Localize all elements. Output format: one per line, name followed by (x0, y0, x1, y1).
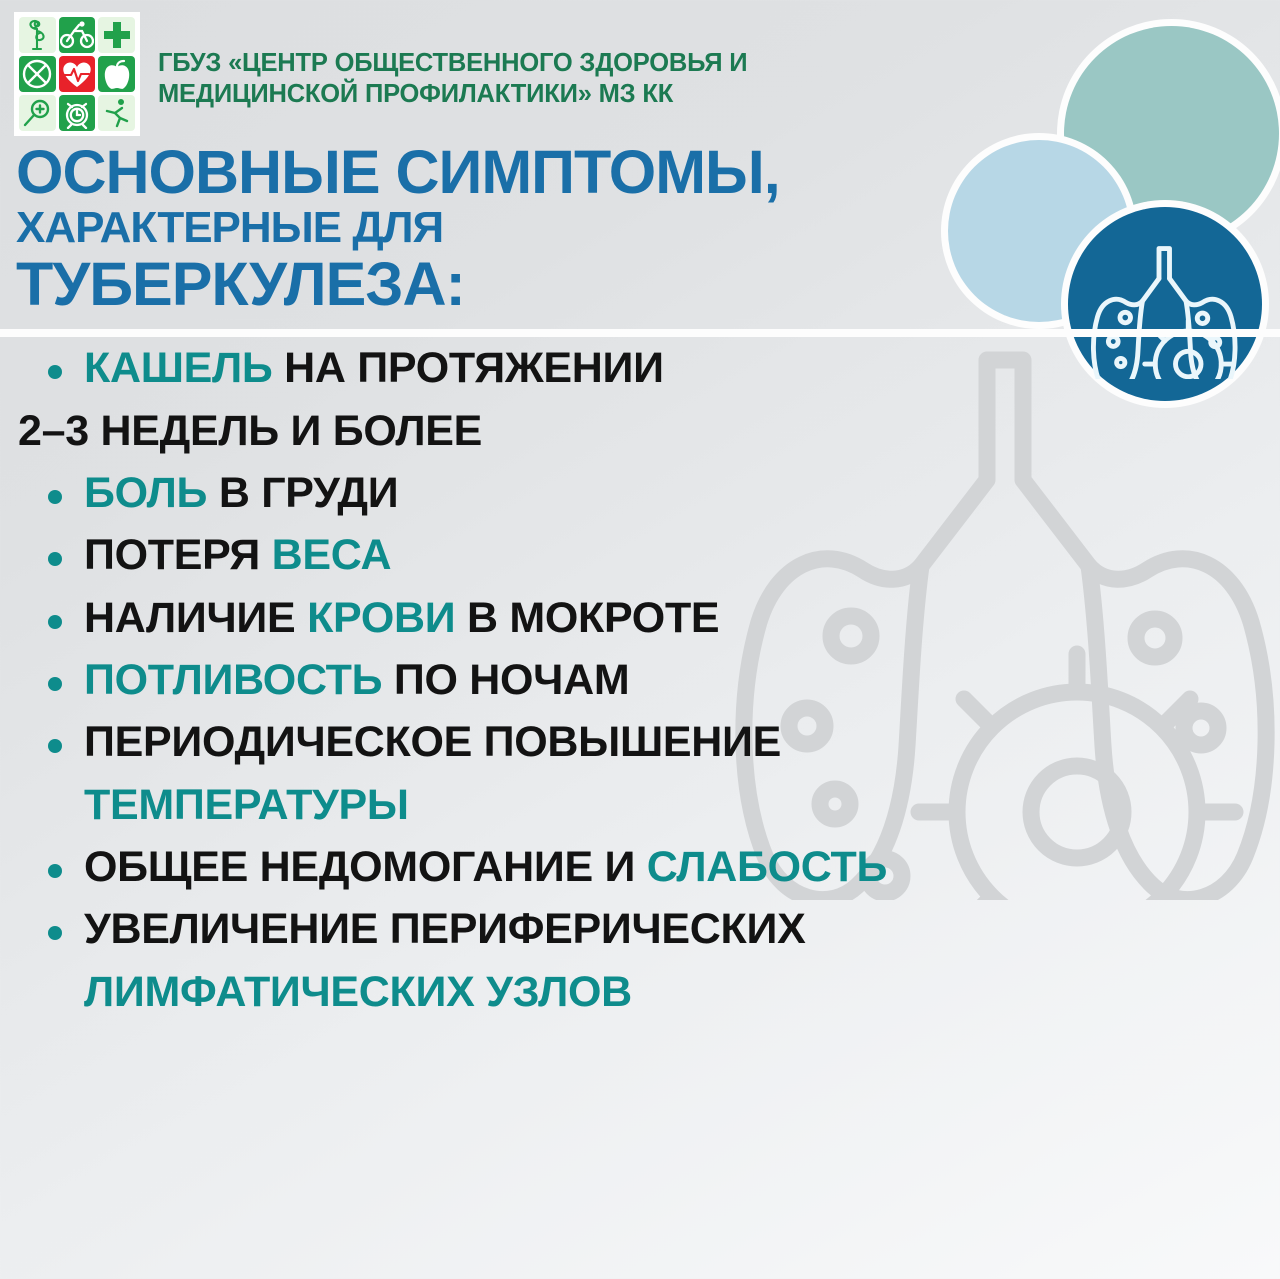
symptom-keyword: БОЛЬ (84, 469, 207, 517)
symptom-text-plain: 2–3 НЕДЕЛЬ И БОЛЕЕ (18, 407, 482, 455)
bullet-dot-icon (48, 552, 62, 566)
bullet-dot-icon (48, 677, 62, 691)
symptom-text-plain: УВЕЛИЧЕНИЕ ПЕРИФЕРИЧЕСКИХ (84, 905, 805, 953)
symptom-text: БОЛЬ В ГРУДИ (84, 465, 398, 521)
symptom-keyword: ТЕМПЕРАТУРЫ (84, 781, 409, 829)
symptom-item: НАЛИЧИЕ КРОВИ В МОКРОТЕ (0, 590, 1280, 646)
symptom-text-plain: ПОТЕРЯ (84, 531, 272, 579)
bullet-dot-icon (48, 926, 62, 940)
symptom-text: НАЛИЧИЕ КРОВИ В МОКРОТЕ (84, 590, 719, 646)
alarm-clock-icon (59, 95, 96, 131)
symptom-item: ПОТЛИВОСТЬ ПО НОЧАМ (0, 652, 1280, 708)
symptom-text-plain: ПО НОЧАМ (382, 656, 629, 704)
header: ГБУЗ «ЦЕНТР ОБЩЕСТВЕННОГО ЗДОРОВЬЯ ИМЕДИ… (0, 0, 1280, 136)
symptom-item: ОБЩЕЕ НЕДОМОГАНИЕ И СЛАБОСТЬ (0, 839, 1280, 895)
symptom-text: КАШЕЛЬ НА ПРОТЯЖЕНИИ (84, 340, 664, 396)
symptom-text: ПОТЕРЯ ВЕСА (84, 527, 391, 583)
symptom-text-plain: В ГРУДИ (207, 469, 398, 517)
symptom-text: ПОТЛИВОСТЬ ПО НОЧАМ (84, 652, 629, 708)
symptom-keyword: КРОВИ (307, 594, 455, 642)
bullet-dot-icon (48, 739, 62, 753)
title-line-2: ХАРАКТЕРНЫЕ ДЛЯ (16, 206, 1280, 250)
caduceus-icon (19, 17, 56, 53)
symptom-keyword: ЛИМФАТИЧЕСКИХ УЗЛОВ (84, 968, 632, 1016)
symptom-text-plain: НАЛИЧИЕ (84, 594, 307, 642)
symptom-list: КАШЕЛЬ НА ПРОТЯЖЕНИИ2–3 НЕДЕЛЬ И БОЛЕЕБО… (0, 340, 1280, 1020)
symptom-item: КАШЕЛЬ НА ПРОТЯЖЕНИИ (0, 340, 1280, 396)
apple-icon (98, 56, 135, 92)
bullet-dot-icon (48, 490, 62, 504)
symptom-text-plain: В МОКРОТЕ (455, 594, 719, 642)
no-smoking-icon (19, 56, 56, 92)
symptom-text: ПЕРИОДИЧЕСКОЕ ПОВЫШЕНИЕ (84, 714, 781, 770)
symptom-continuation: ТЕМПЕРАТУРЫ (0, 777, 1280, 833)
symptom-text-plain: ПЕРИОДИЧЕСКОЕ ПОВЫШЕНИЕ (84, 718, 781, 766)
page-title: ОСНОВНЫЕ СИМПТОМЫ, ХАРАКТЕРНЫЕ ДЛЯ ТУБЕР… (16, 142, 1280, 314)
magnifier-plus-icon (19, 95, 56, 131)
symptom-keyword: ВЕСА (272, 531, 392, 579)
symptom-keyword: ПОТЛИВОСТЬ (84, 656, 382, 704)
symptom-item: УВЕЛИЧЕНИЕ ПЕРИФЕРИЧЕСКИХ (0, 901, 1280, 957)
bullet-dot-icon (48, 615, 62, 629)
cyclist-icon (59, 17, 96, 53)
symptom-keyword: КАШЕЛЬ (84, 344, 272, 392)
symptom-continuation: 2–3 НЕДЕЛЬ И БОЛЕЕ (0, 403, 1280, 459)
title-line-3: ТУБЕРКУЛЕЗА: (16, 254, 1280, 314)
symptom-item: ПОТЕРЯ ВЕСА (0, 527, 1280, 583)
symptom-item: БОЛЬ В ГРУДИ (0, 465, 1280, 521)
title-divider (0, 329, 1280, 337)
symptom-text-plain: ОБЩЕЕ НЕДОМОГАНИЕ И (84, 843, 647, 891)
bullet-dot-icon (48, 365, 62, 379)
bullet-dot-icon (48, 864, 62, 878)
heartbeat-icon (59, 56, 96, 92)
medical-cross-icon (98, 17, 135, 53)
symptom-item: ПЕРИОДИЧЕСКОЕ ПОВЫШЕНИЕ (0, 714, 1280, 770)
symptom-continuation: ЛИМФАТИЧЕСКИХ УЗЛОВ (0, 964, 1280, 1020)
symptom-text-plain: НА ПРОТЯЖЕНИИ (272, 344, 663, 392)
organization-name: ГБУЗ «ЦЕНТР ОБЩЕСТВЕННОГО ЗДОРОВЬЯ ИМЕДИ… (158, 48, 747, 110)
organization-logo (14, 12, 140, 136)
symptom-keyword: СЛАБОСТЬ (647, 843, 887, 891)
organization-name-line1: ГБУЗ «ЦЕНТР ОБЩЕСТВЕННОГО ЗДОРОВЬЯ И (158, 49, 747, 77)
symptom-text: УВЕЛИЧЕНИЕ ПЕРИФЕРИЧЕСКИХ (84, 901, 805, 957)
symptom-text: ОБЩЕЕ НЕДОМОГАНИЕ И СЛАБОСТЬ (84, 839, 887, 895)
runner-icon (98, 95, 135, 131)
title-line-1: ОСНОВНЫЕ СИМПТОМЫ, (16, 142, 1280, 202)
organization-name-line2: МЕДИЦИНСКОЙ ПРОФИЛАКТИКИ» МЗ КК (158, 80, 673, 108)
